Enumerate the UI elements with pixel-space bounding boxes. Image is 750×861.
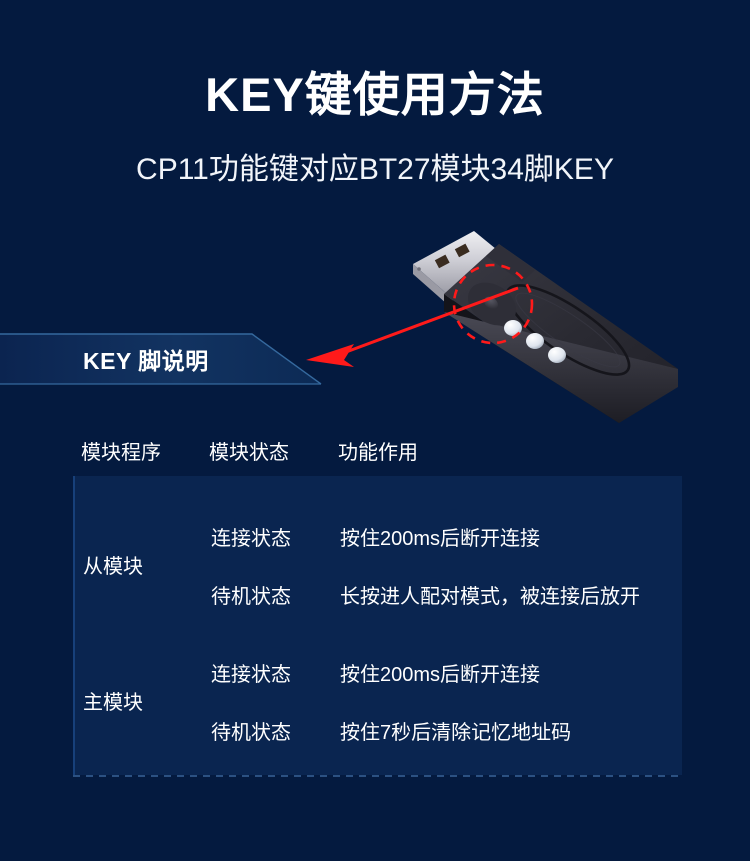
page-title: KEY键使用方法 — [0, 66, 750, 124]
dongle-body — [444, 244, 678, 423]
table-header-state: 模块状态 — [209, 436, 289, 465]
page-root: KEY键使用方法 CP11功能键对应BT27模块34脚KEY — [0, 0, 750, 861]
table-row: 待机状态 按住7秒后清除记忆地址码 — [75, 716, 684, 750]
table-row: 连接状态 按住200ms后断开连接 — [75, 658, 684, 692]
cell-description: 按住200ms后断开连接 — [340, 658, 540, 687]
cell-state: 待机状态 — [211, 716, 291, 745]
table-panel: 从模块 连接状态 按住200ms后断开连接 待机状态 长按进人配对模式，被连接后… — [73, 476, 682, 775]
cell-description: 按住7秒后清除记忆地址码 — [340, 716, 571, 745]
cell-description: 长按进人配对模式，被连接后放开 — [340, 580, 640, 609]
cell-state: 连接状态 — [211, 522, 291, 551]
led-3 — [548, 347, 566, 363]
table-header: 模块程序 模块状态 功能作用 — [73, 436, 683, 470]
panel-bottom-dashed-rule — [73, 775, 682, 777]
cell-state: 待机状态 — [211, 580, 291, 609]
usb-dongle-illustration — [400, 218, 690, 423]
table-header-program: 模块程序 — [81, 436, 161, 465]
table-row: 连接状态 按住200ms后断开连接 — [75, 522, 684, 556]
table-row: 待机状态 长按进人配对模式，被连接后放开 — [75, 580, 684, 614]
table-header-function: 功能作用 — [338, 436, 418, 465]
table-group-master: 主模块 连接状态 按住200ms后断开连接 待机状态 按住7秒后清除记忆地址码 — [75, 636, 684, 762]
usb-dongle-icon — [400, 218, 690, 423]
table-group-slave: 从模块 连接状态 按住200ms后断开连接 待机状态 长按进人配对模式，被连接后… — [75, 500, 684, 626]
cell-description: 按住200ms后断开连接 — [340, 522, 540, 551]
cell-state: 连接状态 — [211, 658, 291, 687]
page-subtitle: CP11功能键对应BT27模块34脚KEY — [0, 150, 750, 190]
key-banner-label: KEY 脚说明 — [0, 331, 330, 387]
led-2 — [526, 333, 544, 349]
